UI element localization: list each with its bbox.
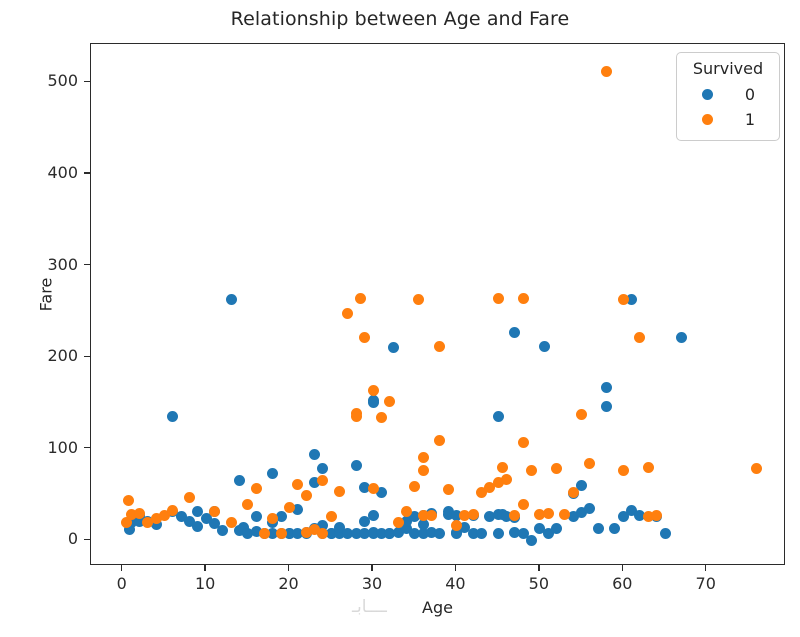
scatter-point <box>167 505 178 516</box>
scatter-point <box>376 412 387 423</box>
scatter-point <box>434 435 445 446</box>
x-tick-label: 60 <box>592 574 652 593</box>
y-tick-label: 100 <box>47 438 78 457</box>
scatter-point <box>351 460 362 471</box>
scatter-point <box>309 449 320 460</box>
scatter-point <box>660 528 671 539</box>
scatter-point <box>509 327 520 338</box>
scatter-point <box>601 66 612 77</box>
scatter-point <box>317 528 328 539</box>
scatter-point <box>342 308 353 319</box>
scatter-point <box>267 468 278 479</box>
y-tick-label: 500 <box>47 71 78 90</box>
legend-title: Survived <box>685 59 771 78</box>
x-tick-label: 40 <box>425 574 485 593</box>
x-axis-label: Age <box>90 598 785 617</box>
x-tick-mark <box>538 565 539 571</box>
x-tick-mark <box>455 565 456 571</box>
y-tick-label: 300 <box>47 255 78 274</box>
scatter-point <box>326 511 337 522</box>
scatter-point <box>618 294 629 305</box>
scatter-point <box>317 475 328 486</box>
x-tick-label: 20 <box>259 574 319 593</box>
x-tick-mark <box>371 565 372 571</box>
x-tick-mark <box>705 565 706 571</box>
x-tick-label: 30 <box>342 574 402 593</box>
scatter-point <box>518 293 529 304</box>
scatter-point <box>476 528 487 539</box>
scatter-point <box>368 397 379 408</box>
scatter-point <box>184 492 195 503</box>
scatter-point <box>526 465 537 476</box>
scatter-point <box>167 411 178 422</box>
scatter-point <box>359 332 370 343</box>
scatter-point <box>426 510 437 521</box>
scatter-point <box>192 521 203 532</box>
scatter-point <box>242 499 253 510</box>
scatter-point <box>209 506 220 517</box>
scatter-point <box>493 411 504 422</box>
legend-entries: 01 <box>685 82 771 132</box>
scatter-point <box>493 528 504 539</box>
y-axis-label: Fare <box>37 235 56 355</box>
legend-entry[interactable]: 1 <box>685 107 771 132</box>
scatter-point <box>393 517 404 528</box>
scatter-point <box>676 332 687 343</box>
y-tick-label: 0 <box>68 529 78 548</box>
scatter-point <box>601 401 612 412</box>
scatter-point <box>351 411 362 422</box>
chart-title: Relationship between Age and Fare <box>0 8 800 30</box>
scatter-point <box>384 396 395 407</box>
scatter-point <box>368 385 379 396</box>
scatter-point <box>284 502 295 513</box>
legend-marker-icon <box>685 114 729 125</box>
legend-marker-icon <box>685 89 729 100</box>
scatter-point <box>618 465 629 476</box>
x-tick-label: 70 <box>676 574 736 593</box>
scatter-point <box>301 490 312 501</box>
x-tick-label: 50 <box>509 574 569 593</box>
scatter-point <box>539 341 550 352</box>
scatter-point <box>551 523 562 534</box>
scatter-point <box>584 458 595 469</box>
y-tick-label: 400 <box>47 163 78 182</box>
scatter-point <box>388 342 399 353</box>
scatter-point <box>643 462 654 473</box>
scatter-point <box>355 293 366 304</box>
legend-entry[interactable]: 0 <box>685 82 771 107</box>
scatter-point <box>593 523 604 534</box>
scatter-point <box>609 523 620 534</box>
scatter-point <box>368 483 379 494</box>
scatter-point <box>226 294 237 305</box>
scatter-point <box>226 517 237 528</box>
scatter-point <box>518 437 529 448</box>
scatter-point <box>584 503 595 514</box>
x-tick-mark <box>204 565 205 571</box>
scatter-point <box>292 479 303 490</box>
scatter-point <box>551 463 562 474</box>
scatter-point <box>468 509 479 520</box>
scatter-point <box>251 511 262 522</box>
scatter-point <box>317 463 328 474</box>
scatter-point <box>543 508 554 519</box>
scatter-point <box>434 528 445 539</box>
scatter-point <box>518 499 529 510</box>
scatter-point <box>409 481 420 492</box>
scatter-point <box>568 487 579 498</box>
scatter-point <box>418 452 429 463</box>
scatter-point <box>526 535 537 546</box>
scatter-point <box>601 382 612 393</box>
scatter-point <box>123 495 134 506</box>
scatter-point <box>334 486 345 497</box>
legend[interactable]: Survived 01 <box>676 52 780 141</box>
scatter-point <box>501 474 512 485</box>
x-tick-mark <box>622 565 623 571</box>
scatter-point <box>497 462 508 473</box>
scatter-point <box>401 506 412 517</box>
scatter-point <box>259 528 270 539</box>
scatter-point <box>234 475 245 486</box>
legend-entry-label: 1 <box>729 110 771 129</box>
scatter-point <box>576 409 587 420</box>
x-tick-label: 0 <box>92 574 152 593</box>
scatter-point <box>418 465 429 476</box>
scatter-point <box>751 463 762 474</box>
scatter-point <box>434 341 445 352</box>
scatter-point <box>443 484 454 495</box>
x-tick-mark <box>288 565 289 571</box>
scatter-point <box>368 510 379 521</box>
x-tick-label: 10 <box>175 574 235 593</box>
legend-entry-label: 0 <box>729 85 771 104</box>
matplotlib-figure: Relationship between Age and Fare Fare A… <box>0 0 800 637</box>
scatter-point <box>413 294 424 305</box>
scatter-point <box>634 332 645 343</box>
scatter-point <box>493 293 504 304</box>
scatter-point <box>251 483 262 494</box>
y-tick-label: 200 <box>47 346 78 365</box>
x-tick-mark <box>121 565 122 571</box>
